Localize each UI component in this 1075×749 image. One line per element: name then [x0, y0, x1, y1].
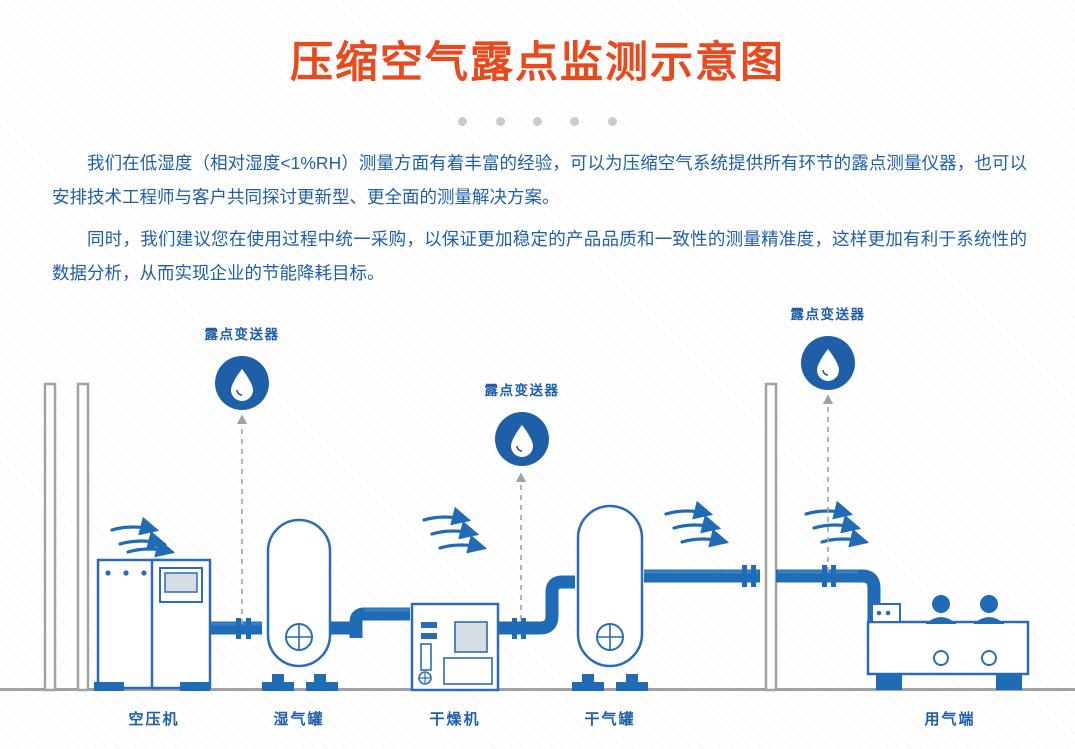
- infographic-page: 压缩空气露点监测示意图 我们在低湿度（相对湿度<1%RH）测量方面有着丰富的经验…: [0, 0, 1075, 749]
- dot: [533, 117, 542, 126]
- wall-left: [45, 384, 88, 690]
- point-of-use-label: 用气端: [880, 708, 1020, 729]
- process-diagram: 露点变送器 露点变送器 露点变送器 空压机 湿气罐 干燥机 干气罐 用气端: [0, 292, 1075, 749]
- decorative-dot-row: [0, 113, 1075, 131]
- paragraph-2: 同时，我们建议您在使用过程中统一采购，以保证更加稳定的产品品质和一致性的测量精准…: [52, 222, 1027, 290]
- wall-right: [766, 384, 776, 690]
- dot: [496, 117, 505, 126]
- dew-point-transmitter-2-label: 露点变送器: [452, 379, 592, 399]
- water-drop-icon: [495, 412, 549, 466]
- paragraph-1: 我们在低湿度（相对湿度<1%RH）测量方面有着丰富的经验，可以为压缩空气系统提供…: [52, 146, 1027, 214]
- dryer-label: 干燥机: [385, 708, 525, 729]
- dew-point-transmitter-2[interactable]: [495, 412, 549, 466]
- wet-air-tank-label: 湿气罐: [229, 708, 369, 729]
- dew-point-transmitter-1-label: 露点变送器: [172, 323, 312, 343]
- wet-air-tank-equipment: [262, 520, 338, 691]
- dew-point-transmitter-3[interactable]: [801, 336, 855, 390]
- dry-air-tank-label: 干气罐: [540, 708, 680, 729]
- airflow-arrows-compressor: [112, 527, 172, 552]
- dryer-equipment: [412, 604, 498, 690]
- dot: [570, 117, 579, 126]
- airflow-arrows-dryer: [424, 517, 484, 548]
- air-compressor-equipment: [94, 560, 210, 691]
- dew-point-transmitter-1[interactable]: [215, 356, 269, 410]
- page-title: 压缩空气露点监测示意图: [0, 28, 1075, 90]
- point-of-use-equipment: [868, 595, 1028, 690]
- water-drop-icon: [215, 356, 269, 410]
- airflow-arrows-dry-tank: [666, 511, 726, 542]
- water-drop-icon: [801, 336, 855, 390]
- dot: [458, 117, 467, 126]
- airflow-arrows-use-end: [806, 511, 866, 542]
- intro-text: 我们在低湿度（相对湿度<1%RH）测量方面有着丰富的经验，可以为压缩空气系统提供…: [52, 146, 1027, 298]
- dot: [608, 117, 617, 126]
- dry-air-tank-equipment: [572, 506, 648, 691]
- air-compressor-label: 空压机: [84, 708, 224, 729]
- diagram-vector-layer: [0, 292, 1075, 749]
- dew-point-transmitter-3-label: 露点变送器: [758, 303, 898, 323]
